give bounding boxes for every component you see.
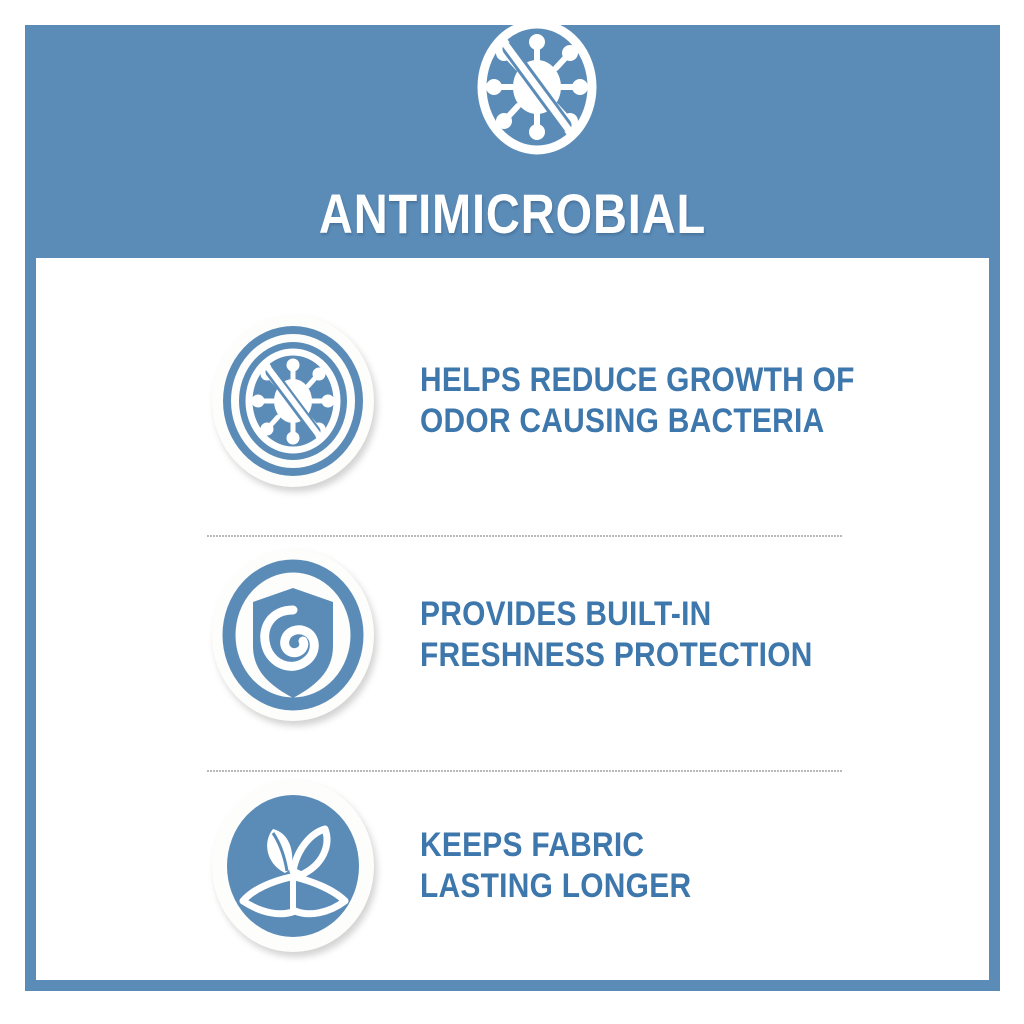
list-item-label: PROVIDES BUILT-IN FRESHNESS PROTECTION [420, 594, 813, 676]
divider [207, 535, 842, 537]
shield-swirl-icon [212, 549, 374, 721]
list-item-line: PROVIDES BUILT-IN [420, 594, 813, 635]
list-item: PROVIDES BUILT-IN FRESHNESS PROTECTION [36, 540, 989, 730]
no-germ-icon [462, 5, 612, 170]
list-item: KEEPS FABRIC LASTING LONGER [36, 771, 989, 961]
list-item-line: LASTING LONGER [420, 866, 691, 907]
features-card: HELPS REDUCE GROWTH OF ODOR CAUSING BACT… [36, 258, 989, 980]
feature-list: HELPS REDUCE GROWTH OF ODOR CAUSING BACT… [36, 258, 989, 980]
header-band: ANTIMICROBIAL [25, 25, 1000, 258]
page-title: ANTIMICROBIAL [103, 185, 922, 243]
blue-frame: ANTIMICROBIAL [25, 25, 1000, 991]
list-item-label: HELPS REDUCE GROWTH OF ODOR CAUSING BACT… [420, 360, 855, 442]
list-item-label: KEEPS FABRIC LASTING LONGER [420, 825, 691, 907]
antimicrobial-infographic: ANTIMICROBIAL [0, 0, 1024, 1024]
list-item-line: KEEPS FABRIC [420, 825, 691, 866]
no-germ-icon [212, 315, 374, 487]
list-item-line: ODOR CAUSING BACTERIA [420, 401, 855, 442]
list-item-line: FRESHNESS PROTECTION [420, 635, 813, 676]
list-item: HELPS REDUCE GROWTH OF ODOR CAUSING BACT… [36, 306, 989, 496]
list-item-line: HELPS REDUCE GROWTH OF [420, 360, 855, 401]
leaf-sprout-icon [212, 780, 374, 952]
